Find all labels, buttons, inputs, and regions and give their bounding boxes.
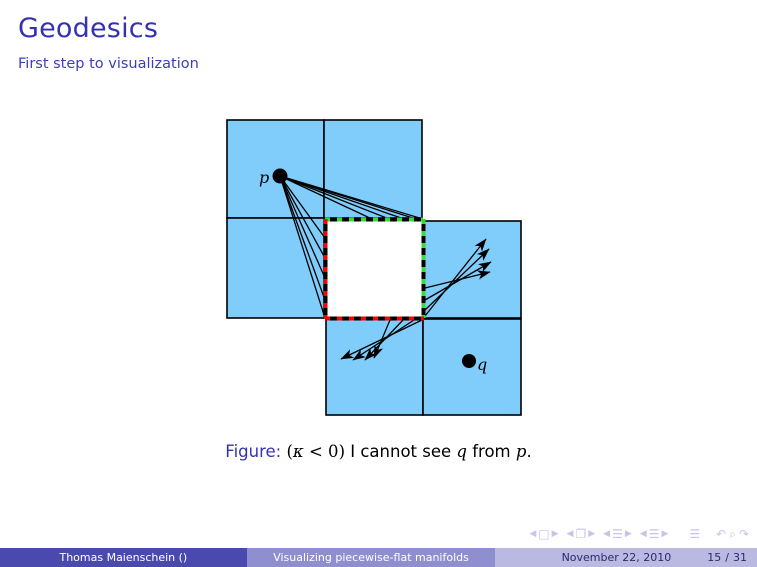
geodesic-arrows-bottom-tile xyxy=(341,320,422,360)
footer-page-total: 31 xyxy=(733,551,747,564)
footer-institute: Visualizing piecewise-flat manifolds xyxy=(247,548,496,567)
slide-nav-frame-icon[interactable]: ◀ ❐ ▶ xyxy=(567,528,596,540)
tile-missing-cone xyxy=(325,219,423,318)
footer-bar: Thomas Maienschein () Visualizing piecew… xyxy=(0,548,757,567)
slide-nav-search-icon[interactable]: ⌕ xyxy=(729,528,736,540)
slide-nav-section-icon[interactable]: ◀ ☰ ▶ xyxy=(640,528,669,540)
slide-nav-doc-icon[interactable]: ☰ xyxy=(689,528,700,540)
tile-middle-right xyxy=(424,221,521,318)
footer-page-separator: / xyxy=(725,551,729,564)
footer-meta: November 22, 2010 15 / 31 xyxy=(495,548,757,567)
geodesic-figure-svg: p q xyxy=(0,0,757,500)
slide-nav-subsection-icon[interactable]: ◀ ☰ ▶ xyxy=(603,528,632,540)
caption-relation: < 0 xyxy=(309,442,339,461)
footer-author: Thomas Maienschein () xyxy=(0,548,247,567)
geodesic-arrows-right-tile xyxy=(425,239,491,316)
caption-text-2: from xyxy=(472,442,510,461)
figure-caption: Figure: (κ < 0) I cannot see q from p. xyxy=(0,442,757,461)
tile-middle-left xyxy=(227,218,324,318)
point-q-dot xyxy=(462,354,476,368)
slide-nav-forward-icon[interactable]: ↷ xyxy=(739,528,749,540)
caption-text-1: I cannot see xyxy=(350,442,451,461)
beamer-navigation-symbols[interactable]: ◀ □ ▶ ◀ ❐ ▶ ◀ ☰ ▶ ◀ ☰ ▶ ☰ ↶ ⌕ ↷ xyxy=(529,524,749,544)
tile-top-middle xyxy=(324,120,422,218)
tile-bottom-middle xyxy=(326,319,423,415)
caption-p: p xyxy=(516,442,527,461)
slide-nav-back-icon[interactable]: ↶ xyxy=(716,528,726,540)
point-q-label: q xyxy=(477,355,487,374)
geodesic-figure: p q xyxy=(0,0,757,500)
figure-caption-label: Figure: xyxy=(225,442,281,461)
point-p-dot xyxy=(273,169,288,184)
geodesic-rays-from-p xyxy=(280,176,423,318)
footer-page-indicator: 15 / 31 xyxy=(707,551,747,564)
caption-kappa: κ xyxy=(293,442,304,461)
caption-q: q xyxy=(456,442,467,461)
tile-top-left xyxy=(227,120,324,218)
tile-bottom-right xyxy=(423,319,521,415)
footer-date: November 22, 2010 xyxy=(562,551,672,564)
slide-nav-first-icon[interactable]: ◀ □ ▶ xyxy=(529,528,558,540)
footer-page-current: 15 xyxy=(707,551,721,564)
page-title: Geodesics xyxy=(18,14,158,44)
point-p-label: p xyxy=(259,168,269,187)
caption-period: . xyxy=(526,442,531,461)
page-subtitle: First step to visualization xyxy=(18,56,199,72)
